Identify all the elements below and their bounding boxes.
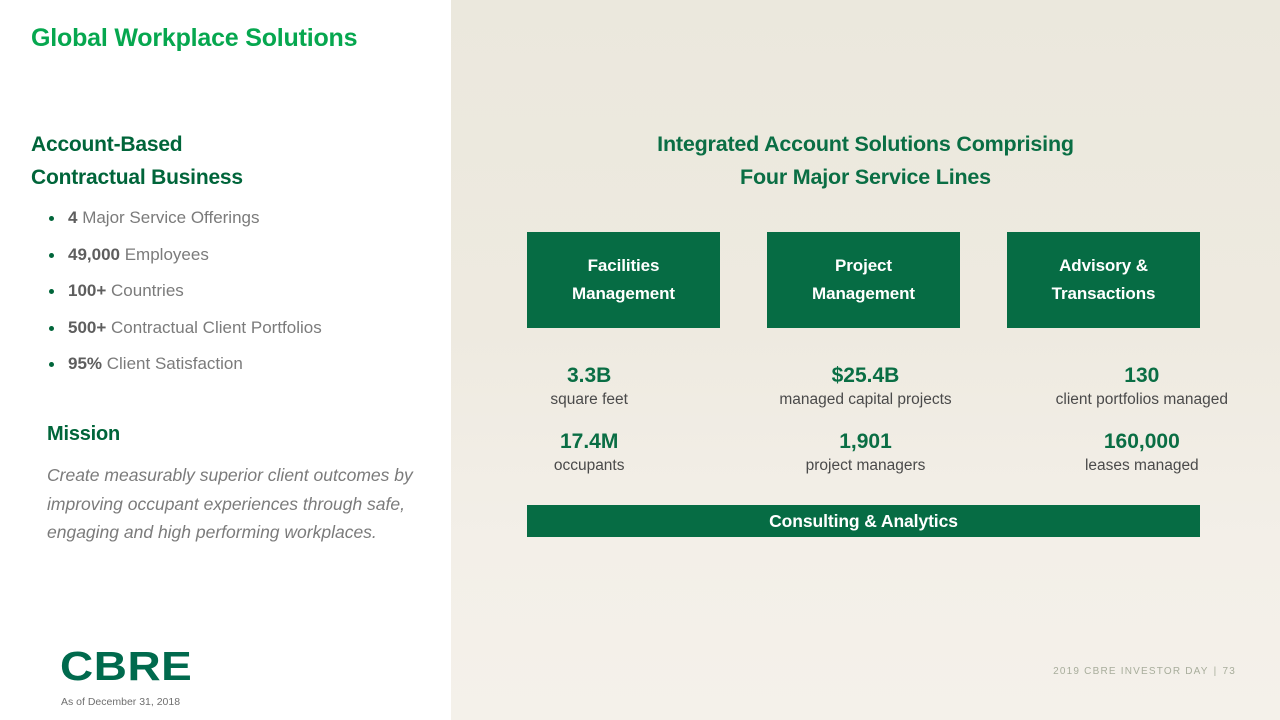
stat-label: managed capital projects xyxy=(727,389,1003,411)
stat-value: $25.4B xyxy=(727,363,1003,389)
as-of-date: As of December 31, 2018 xyxy=(61,696,180,708)
list-item: 100+ Countries xyxy=(44,273,444,310)
footer-event-label: 2019 CBRE INVESTOR DAY xyxy=(1053,666,1209,677)
page-title: Global Workplace Solutions xyxy=(31,24,357,53)
mission-heading: Mission xyxy=(47,423,120,446)
stat-label: occupants xyxy=(451,455,727,477)
list-item-lead: 49,000 xyxy=(68,245,120,264)
footer-separator: | xyxy=(1214,666,1218,677)
consulting-analytics-bar: Consulting & Analytics xyxy=(527,505,1200,537)
service-box-line2: Transactions xyxy=(1052,280,1156,308)
service-line-boxes: Facilities Management Project Management… xyxy=(527,232,1200,328)
list-item-text: Countries xyxy=(106,281,183,300)
list-item-text: Employees xyxy=(120,245,209,264)
list-item-text: Client Satisfaction xyxy=(102,354,243,373)
stat-cell: 3.3B square feet xyxy=(451,363,727,411)
service-box-facilities-management: Facilities Management xyxy=(527,232,720,328)
footer-note: 2019 CBRE INVESTOR DAY|73 xyxy=(1053,666,1236,677)
stat-label: leases managed xyxy=(1004,455,1280,477)
stat-cell: $25.4B managed capital projects xyxy=(727,363,1003,411)
bullet-dot-icon xyxy=(49,326,54,331)
stat-value: 17.4M xyxy=(451,429,727,455)
service-box-line1: Project xyxy=(835,252,892,280)
left-column: Global Workplace Solutions Account-Based… xyxy=(0,0,451,720)
list-item: 95% Client Satisfaction xyxy=(44,346,444,383)
stat-value: 130 xyxy=(1004,363,1280,389)
list-item-lead: 95% xyxy=(68,354,102,373)
service-box-line1: Advisory & xyxy=(1059,252,1148,280)
stat-label: client portfolios managed xyxy=(1004,389,1280,411)
mission-body: Create measurably superior client outcom… xyxy=(47,461,432,547)
stat-label: square feet xyxy=(451,389,727,411)
service-box-advisory-transactions: Advisory & Transactions xyxy=(1007,232,1200,328)
service-box-line1: Facilities xyxy=(588,252,660,280)
service-box-project-management: Project Management xyxy=(767,232,960,328)
list-item: 49,000 Employees xyxy=(44,237,444,274)
stat-cell: 17.4M occupants xyxy=(451,429,727,477)
left-section-heading-line1: Account-Based xyxy=(31,128,243,161)
stats-bullet-list: 4 Major Service Offerings 49,000 Employe… xyxy=(44,200,444,383)
footer-page-number: 73 xyxy=(1222,666,1236,677)
right-section-heading-line1: Integrated Account Solutions Comprising xyxy=(451,128,1280,161)
stats-row-secondary: 17.4M occupants 1,901 project managers 1… xyxy=(451,429,1280,477)
list-item: 500+ Contractual Client Portfolios xyxy=(44,310,444,347)
stat-cell: 160,000 leases managed xyxy=(1004,429,1280,477)
list-item-text: Contractual Client Portfolios xyxy=(106,318,321,337)
list-item: 4 Major Service Offerings xyxy=(44,200,444,237)
right-panel-background xyxy=(451,0,1280,720)
stat-value: 160,000 xyxy=(1004,429,1280,455)
stat-cell: 130 client portfolios managed xyxy=(1004,363,1280,411)
slide: Global Workplace Solutions Account-Based… xyxy=(0,0,1280,720)
stat-value: 1,901 xyxy=(727,429,1003,455)
bullet-dot-icon xyxy=(49,289,54,294)
stat-cell: 1,901 project managers xyxy=(727,429,1003,477)
service-box-line2: Management xyxy=(812,280,915,308)
list-item-text: Major Service Offerings xyxy=(77,208,259,227)
list-item-lead: 100+ xyxy=(68,281,106,300)
bullet-dot-icon xyxy=(49,216,54,221)
bullet-dot-icon xyxy=(49,253,54,258)
right-section-heading-line2: Four Major Service Lines xyxy=(451,161,1280,194)
bullet-dot-icon xyxy=(49,362,54,367)
list-item-lead: 500+ xyxy=(68,318,106,337)
cbre-logo: CBRE xyxy=(60,646,192,687)
left-section-heading: Account-Based Contractual Business xyxy=(31,128,243,194)
left-section-heading-line2: Contractual Business xyxy=(31,161,243,194)
service-box-line2: Management xyxy=(572,280,675,308)
stat-label: project managers xyxy=(727,455,1003,477)
stats-row-primary: 3.3B square feet $25.4B managed capital … xyxy=(451,363,1280,411)
stat-value: 3.3B xyxy=(451,363,727,389)
right-section-heading: Integrated Account Solutions Comprising … xyxy=(451,128,1280,194)
